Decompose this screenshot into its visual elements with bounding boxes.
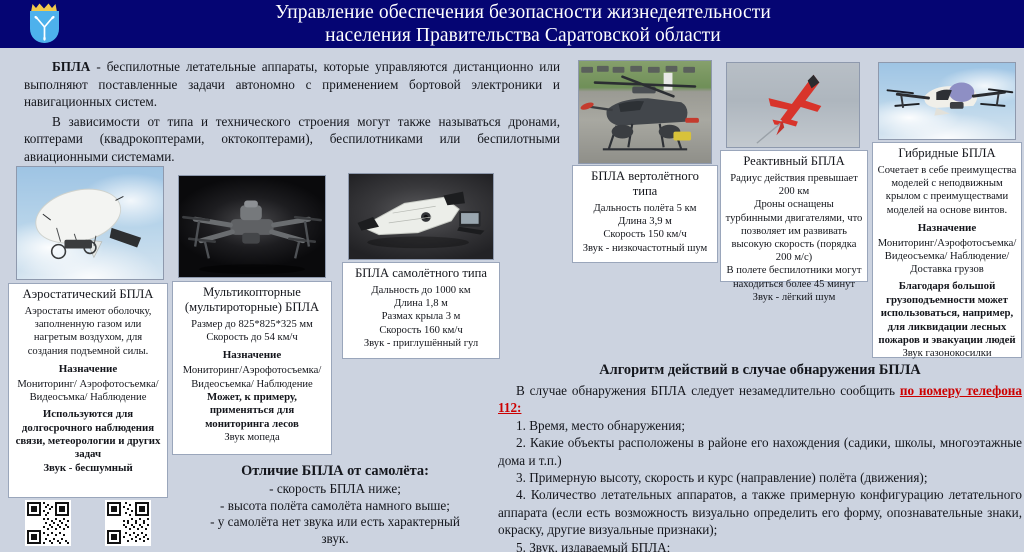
difference-item-1: - скорость БПЛА ниже; [182,481,488,498]
card-hybrid-note: Благодаря большой грузоподъемности может… [877,280,1017,347]
jet-drone-photo [726,62,860,148]
card-airplane-spec3: Размах крыла 3 м [347,310,495,323]
algorithm-lead: В случае обнаружения БПЛА следует незаме… [498,382,1022,417]
card-multicopter: Мультикопторные (мультироторные) БПЛА Ра… [172,281,332,455]
difference-heading: Отличие БПЛА от самолёта: [182,462,488,480]
card-helicopter-title-line2: типа [633,184,658,198]
card-aerostat-title: Аэростатический БПЛА [13,287,163,302]
card-hybrid-sound: Звук газонокосилки [877,347,1017,360]
header-title-line2: населения Правительства Саратовской обла… [68,24,978,47]
qr-code-left[interactable] [25,500,71,546]
difference-item-3: - у самолёта нет звука или есть характер… [182,514,488,531]
intro-text: БПЛА - беспилотные летательные аппараты,… [24,58,560,168]
jet-drone-illustration [727,63,859,147]
card-helicopter-title-line1: БПЛА вертолётного [591,169,699,183]
algorithm-heading: Алгоритм действий в случае обнаружения Б… [498,362,1022,379]
poster-root: Управление обеспечения безопасности жизн… [0,0,1024,552]
intro-paragraph-2: В зависимости от типа и технического стр… [24,113,560,166]
card-airplane-type: БПЛА самолётного типа Дальность до 1000 … [342,262,500,359]
algorithm-item-3: 3. Примерную высоту, скорость и курс (на… [498,469,1022,486]
card-aerostat-sound: Звук - бесшумный [13,462,163,475]
algorithm-item-2: 2. Какие объекты расположены в районе ег… [498,434,1022,469]
card-airplane-title: БПЛА самолётного типа [347,266,495,281]
card-multicopter-spec2: Скорость до 54 км/ч [177,331,327,344]
page-title: Управление обеспечения безопасности жизн… [68,1,1024,47]
card-aerostat-note: Используются для долгосрочного наблюдени… [13,408,163,462]
card-multicopter-note: Может, к примеру, применяться для монито… [177,391,327,431]
card-multicopter-purpose-label: Назначение [177,348,327,362]
card-aerostat-purpose-label: Назначение [13,362,163,376]
qr-code-left-image [27,502,69,544]
card-airplane-spec1: Дальность до 1000 км [347,284,495,297]
card-multicopter-spec1: Размер до 825*825*325 мм [177,318,327,331]
card-jet-type: Реактивный БПЛА Радиус действия превышае… [720,150,868,282]
flying-wing-illustration [349,174,493,259]
quadcopter-illustration [179,176,325,277]
card-jet-spec3: В полете беспилотники могут находиться б… [725,264,863,290]
card-helicopter-spec1: Дальность полёта 5 км [577,202,713,215]
three-sterlets-icon [30,13,59,42]
saratov-coat-of-arms-icon [22,2,68,46]
card-hybrid-title: Гибридные БПЛА [877,146,1017,161]
card-hybrid-type: Гибридные БПЛА Сочетает в себе преимущес… [872,142,1022,358]
card-hybrid-purpose: Мониторинг/Аэрофотосъемка/ Видеосъемка/ … [877,237,1017,277]
algorithm-lead-text: В случае обнаружения БПЛА следует незаме… [516,383,900,398]
card-multicopter-title-line2: (мультироторные) БПЛА [185,300,319,314]
aerostat-blimp-photo [16,166,164,280]
algorithm-item-5: 5. Звук, издаваемый БПЛА; [498,539,1022,552]
multicopter-drone-photo [178,175,326,278]
intro-paragraph-1-body: - беспилотные летательные аппараты, кото… [24,59,560,109]
blimp-illustration [17,167,163,279]
intro-paragraph-1: БПЛА - беспилотные летательные аппараты,… [24,58,560,111]
card-aerostat-purpose: Мониторинг/ Аэрофотосъемка/ Видеосъмка/ … [13,378,163,404]
helicopter-drone-photo [578,60,712,164]
card-multicopter-title: Мультикопторные (мультироторные) БПЛА [177,285,327,315]
card-helicopter-spec2: Длина 3,9 м [577,215,713,228]
hybrid-drone-photo [878,62,1016,140]
card-jet-title: Реактивный БПЛА [725,154,863,169]
difference-item-4: звук. [182,531,488,548]
card-jet-sound: Звук - лёгкий шум [725,291,863,304]
algorithm-item-1: 1. Время, место обнаружения; [498,417,1022,434]
card-helicopter-sound: Звук - низкочастотный шум [577,242,713,255]
card-helicopter-title: БПЛА вертолётного типа [577,169,713,199]
qr-code-right-image [107,502,149,544]
card-helicopter-type: БПЛА вертолётного типа Дальность полёта … [572,165,718,263]
qr-code-right[interactable] [105,500,151,546]
card-airplane-spec4: Скорость 160 км/ч [347,324,495,337]
card-airplane-sound: Звук - приглушённый гул [347,337,495,350]
algorithm-section: Алгоритм действий в случае обнаружения Б… [498,362,1022,552]
card-jet-spec2: Дроны оснащены турбинными двигателями, ч… [725,198,863,264]
difference-item-2: - высота полёта самолёта намного выше; [182,498,488,515]
algorithm-item-4: 4. Количество летательных аппаратов, а т… [498,486,1022,538]
fixed-wing-drone-photo [348,173,494,260]
card-multicopter-sound: Звук мопеда [177,431,327,444]
card-helicopter-spec3: Скорость 150 км/ч [577,228,713,241]
difference-section: Отличие БПЛА от самолёта: - скорость БПЛ… [182,462,488,547]
term-bpla: БПЛА [52,59,90,74]
card-aerostat: Аэростатический БПЛА Аэростаты имеют обо… [8,283,168,498]
card-jet-spec1: Радиус действия превышает 200 км [725,172,863,198]
card-airplane-spec2: Длина 1,8 м [347,297,495,310]
card-multicopter-title-line1: Мультикопторные [203,285,301,299]
card-hybrid-desc: Сочетает в себе преимущества моделей с н… [877,164,1017,217]
card-multicopter-purpose: Мониторинг/Аэрофотосъемка/ Видеосъемка/ … [177,364,327,390]
hybrid-drone-illustration [879,63,1015,139]
card-hybrid-purpose-label: Назначение [877,221,1017,235]
header-title-line1: Управление обеспечения безопасности жизн… [275,2,771,23]
helicopter-illustration [579,61,711,163]
card-aerostat-desc: Аэростаты имеют оболочку, заполненную га… [13,305,163,358]
qr-code-group [8,500,168,546]
poster-header: Управление обеспечения безопасности жизн… [0,0,1024,48]
